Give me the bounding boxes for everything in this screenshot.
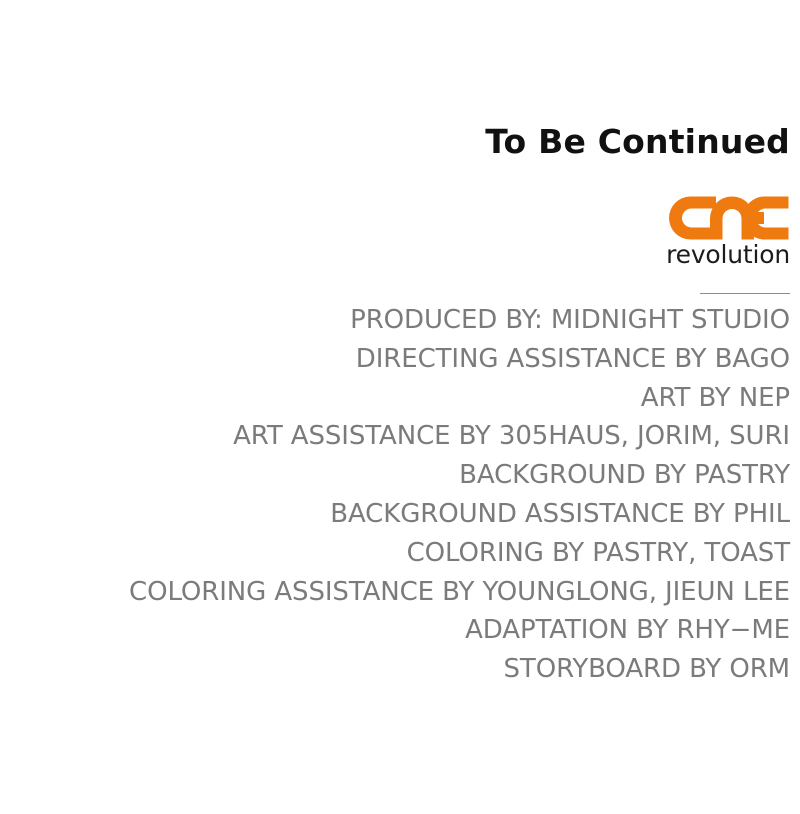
credit-line: DIRECTING ASSISTANCE BY BAGO <box>0 340 790 379</box>
horizontal-divider <box>700 293 790 294</box>
studio-logo-row: revolution <box>0 196 790 267</box>
credit-line: ADAPTATION BY RHY−ME <box>0 611 790 650</box>
divider-row <box>0 283 790 302</box>
cnc-revolution-logo: revolution <box>666 196 790 267</box>
title-row: To Be Continued <box>0 124 790 160</box>
credit-line: BACKGROUND ASSISTANCE BY PHIL <box>0 495 790 534</box>
credits-list: PRODUCED BY: MIDNIGHT STUDIO DIRECTING A… <box>0 301 790 689</box>
to-be-continued-title: To Be Continued <box>485 124 790 160</box>
logo-wordmark-text: revolution <box>666 242 790 267</box>
credit-line: BACKGROUND BY PASTRY <box>0 456 790 495</box>
credit-line: ART ASSISTANCE BY 305HAUS, JORIM, SURI <box>0 417 790 456</box>
credit-line: STORYBOARD BY ORM <box>0 650 790 689</box>
credit-line: ART BY NEP <box>0 379 790 418</box>
episode-end-panel: To Be Continued revol <box>0 0 800 814</box>
credit-line: PRODUCED BY: MIDNIGHT STUDIO <box>0 301 790 340</box>
credit-line: COLORING BY PASTRY, TOAST <box>0 534 790 573</box>
credit-line: COLORING ASSISTANCE BY YOUNGLONG, JIEUN … <box>0 573 790 612</box>
cnc-logo-icon <box>666 196 790 240</box>
